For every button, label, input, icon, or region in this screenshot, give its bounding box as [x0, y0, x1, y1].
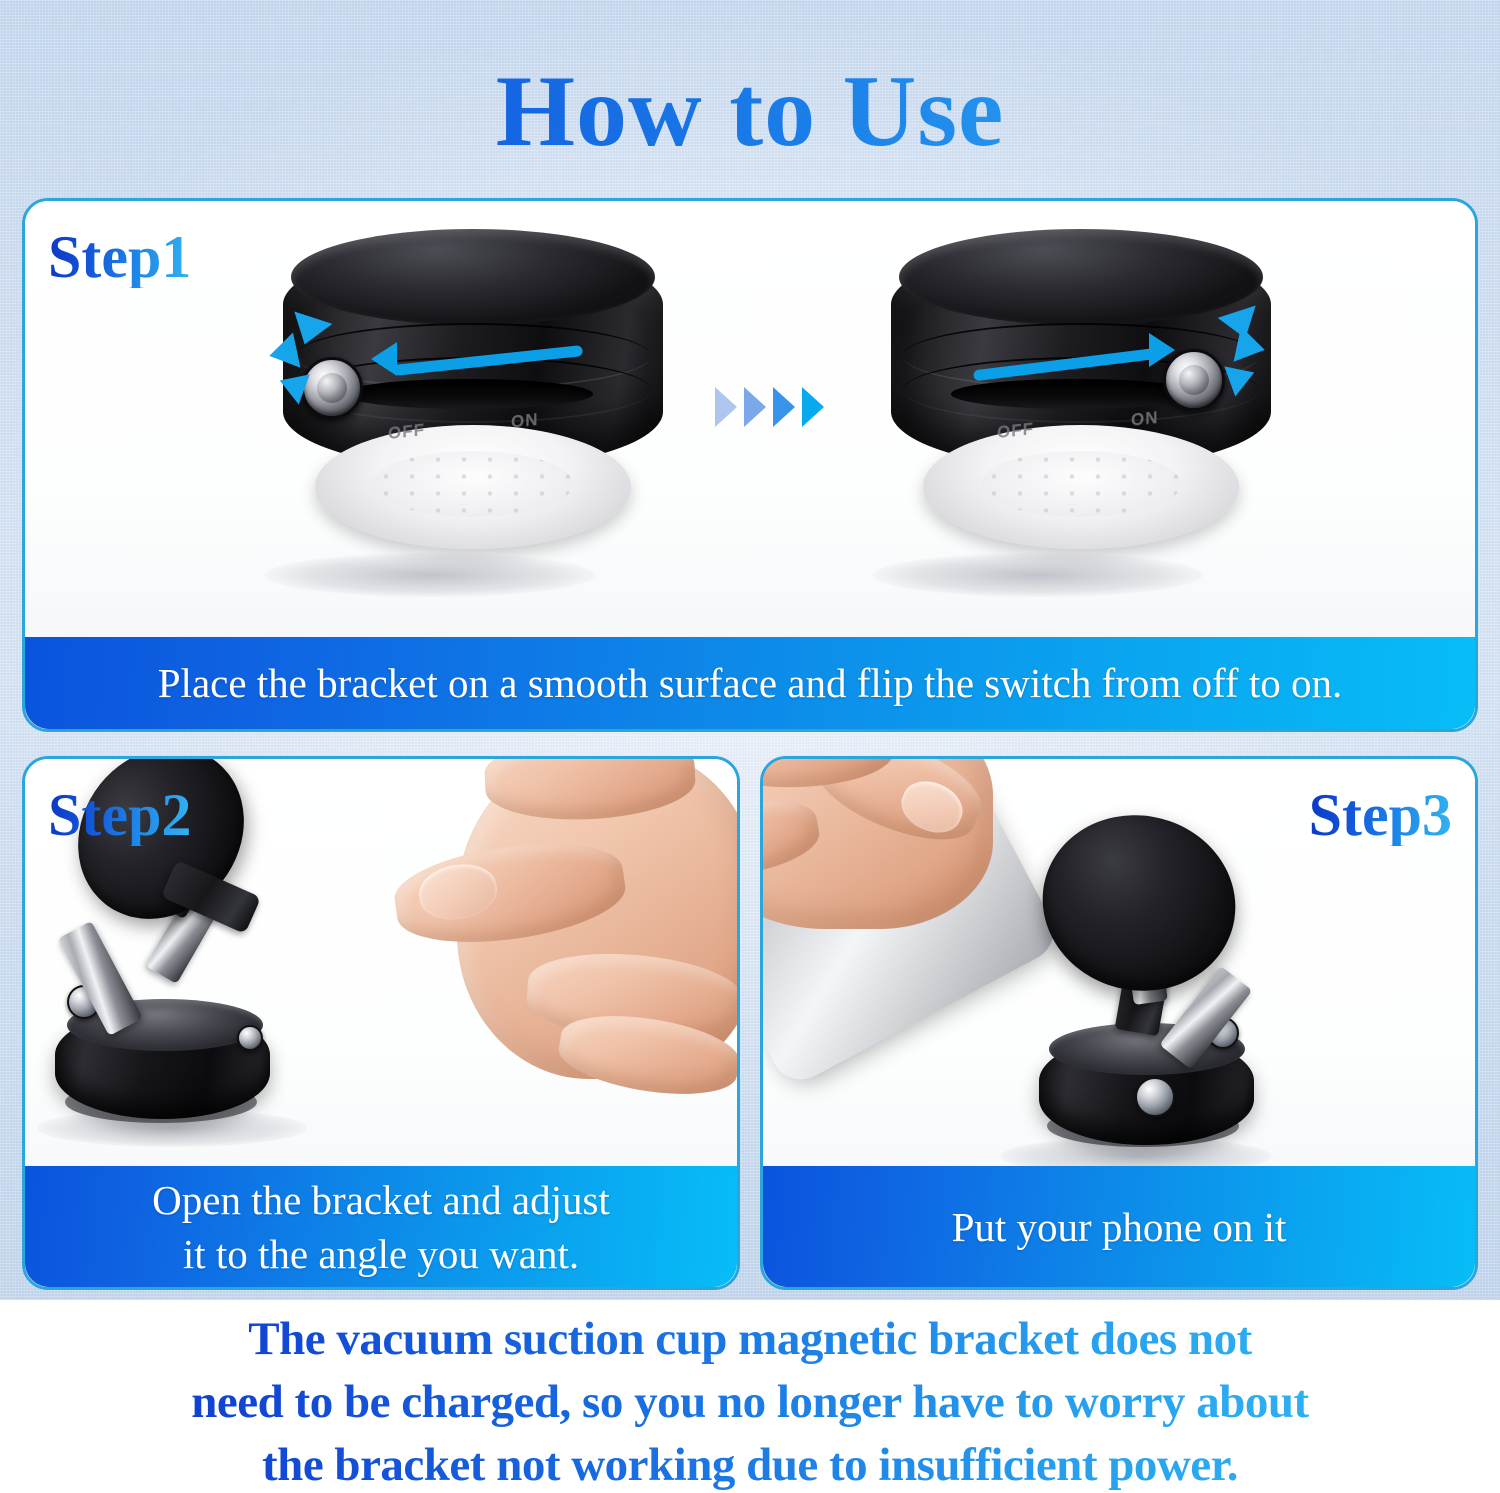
footer-note: The vacuum suction cup magnetic bracket …	[0, 1308, 1500, 1493]
step1-label: Step1	[48, 226, 191, 288]
infographic-page: How to Use OFF ON	[0, 0, 1500, 1493]
chevron-right-icon	[773, 387, 795, 427]
device-top-face	[899, 229, 1263, 325]
footer-line: the bracket not working due to insuffici…	[0, 1434, 1500, 1493]
direction-arrow-head	[1149, 333, 1175, 367]
device-on-label: ON	[511, 410, 539, 433]
device-suction-texture	[373, 451, 573, 517]
chevron-right-icon	[715, 387, 737, 427]
device-top-face	[291, 229, 655, 325]
device-suction-base	[315, 425, 631, 549]
step3-label: Step3	[1309, 784, 1452, 846]
chevron-right-icon	[802, 387, 824, 427]
device-switch-lever[interactable]	[301, 357, 363, 419]
transition-chevrons	[715, 387, 824, 427]
device-on: OFF ON	[891, 229, 1271, 559]
device-off-label: OFF	[997, 419, 1034, 443]
step2-caption-line: it to the angle you want.	[152, 1227, 610, 1281]
bracket-magnetic-head	[1037, 814, 1242, 993]
device-off: OFF ON	[283, 229, 663, 559]
device-suction-texture	[981, 451, 1181, 517]
device-switch-slot	[343, 379, 593, 409]
device-on-shadow	[873, 553, 1203, 597]
bracket-side-pin[interactable]	[237, 1025, 263, 1051]
step3-caption-line: Put your phone on it	[952, 1200, 1287, 1254]
device-off-shadow	[265, 553, 595, 597]
chevron-right-icon	[744, 387, 766, 427]
step1-caption-line: Place the bracket on a smooth surface an…	[158, 660, 1342, 706]
bracket-base-screw[interactable]	[1135, 1077, 1175, 1117]
device-off-label: OFF	[388, 420, 425, 444]
page-title: How to Use	[0, 57, 1500, 167]
footer-line: The vacuum suction cup magnetic bracket …	[0, 1308, 1500, 1371]
step3-caption: Put your phone on it	[763, 1166, 1475, 1287]
step2-caption: Open the bracket and adjust it to the an…	[25, 1166, 737, 1287]
step1-caption: Place the bracket on a smooth surface an…	[25, 637, 1475, 729]
step2-caption-line: Open the bracket and adjust	[152, 1173, 610, 1227]
device-suction-base	[923, 425, 1239, 549]
direction-arrow-head	[371, 342, 397, 376]
footer-line: need to be charged, so you no longer hav…	[0, 1371, 1500, 1434]
device-on-label: ON	[1131, 408, 1159, 431]
step2-label: Step2	[48, 784, 191, 846]
